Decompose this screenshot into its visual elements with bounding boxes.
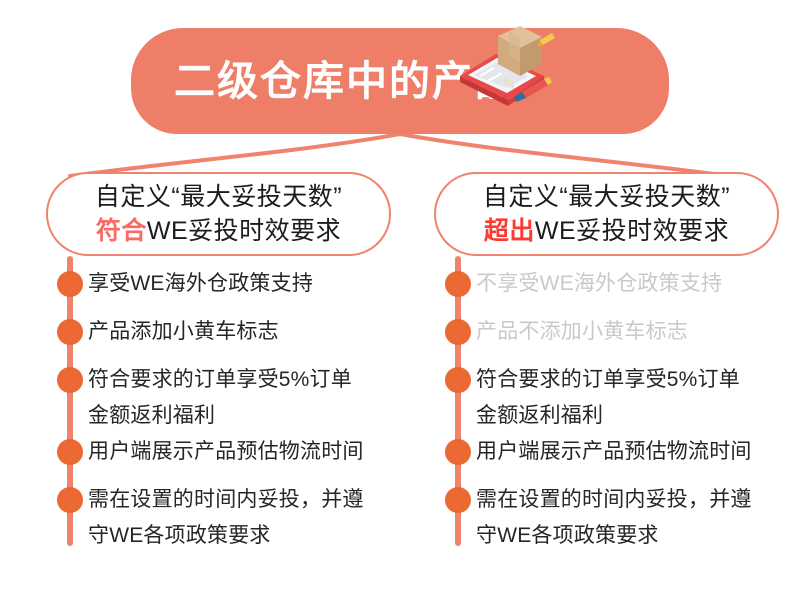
timeline-exceeded: 不享受WE海外仓政策支持 产品不添加小黄车标志 符合要求的订单享受5%订单 金额… — [434, 256, 779, 554]
bullet-dot-icon — [57, 319, 83, 345]
list-item: 享受WE海外仓政策支持 — [46, 266, 391, 314]
infographic-canvas: 二级仓库中的产品 — [0, 0, 800, 616]
card-compliant-line2-rest: WE妥投时效要求 — [147, 217, 341, 245]
list-item-label: 用户端展示产品预估物流时间 — [476, 434, 752, 470]
bullet-dot-icon — [57, 271, 83, 297]
list-item: 用户端展示产品预估物流时间 — [46, 434, 391, 482]
list-item-label: 需在设置的时间内妥投，并遵 守WE各项政策要求 — [88, 482, 364, 554]
bullet-dot-icon — [445, 439, 471, 465]
card-compliant-line1: 自定义“最大妥投天数” — [95, 179, 342, 215]
card-compliant-accent: 符合 — [96, 217, 147, 245]
bullet-dot-icon — [57, 367, 83, 393]
bullet-dot-icon — [445, 271, 471, 297]
list-item: 产品添加小黄车标志 — [46, 314, 391, 362]
bullet-dot-icon — [57, 487, 83, 513]
list-item-label: 产品添加小黄车标志 — [88, 314, 279, 350]
card-compliant: 自定义“最大妥投天数” 符合WE妥投时效要求 — [46, 172, 391, 256]
list-item-label: 用户端展示产品预估物流时间 — [88, 434, 364, 470]
bullet-dot-icon — [445, 319, 471, 345]
connector-left — [70, 134, 400, 176]
list-item-label: 不享受WE海外仓政策支持 — [476, 266, 722, 302]
card-exceeded-line1: 自定义“最大妥投天数” — [483, 179, 730, 215]
list-item: 符合要求的订单享受5%订单 金额返利福利 — [434, 362, 779, 434]
list-item: 用户端展示产品预估物流时间 — [434, 434, 779, 482]
list-item-label: 享受WE海外仓政策支持 — [88, 266, 313, 302]
list-item: 产品不添加小黄车标志 — [434, 314, 779, 362]
list-item-label: 符合要求的订单享受5%订单 金额返利福利 — [88, 362, 352, 434]
card-exceeded-line2: 超出WE妥投时效要求 — [484, 213, 729, 249]
list-item-label: 产品不添加小黄车标志 — [476, 314, 688, 350]
list-item: 需在设置的时间内妥投，并遵 守WE各项政策要求 — [46, 482, 391, 554]
card-exceeded-accent: 超出 — [484, 217, 535, 245]
bullet-dot-icon — [445, 487, 471, 513]
header-banner: 二级仓库中的产品 — [131, 28, 669, 134]
list-item-label: 符合要求的订单享受5%订单 金额返利福利 — [476, 362, 740, 434]
list-item: 符合要求的订单享受5%订单 金额返利福利 — [46, 362, 391, 434]
card-exceeded-line2-rest: WE妥投时效要求 — [535, 217, 729, 245]
column-compliant: 自定义“最大妥投天数” 符合WE妥投时效要求 享受WE海外仓政策支持 产品添加小… — [46, 172, 391, 554]
list-item: 不享受WE海外仓政策支持 — [434, 266, 779, 314]
list-item-label: 需在设置的时间内妥投，并遵 守WE各项政策要求 — [476, 482, 752, 554]
card-compliant-line2: 符合WE妥投时效要求 — [96, 213, 341, 249]
bullet-dot-icon — [445, 367, 471, 393]
card-exceeded: 自定义“最大妥投天数” 超出WE妥投时效要求 — [434, 172, 779, 256]
list-item: 需在设置的时间内妥投，并遵 守WE各项政策要求 — [434, 482, 779, 554]
column-exceeded: 自定义“最大妥投天数” 超出WE妥投时效要求 不享受WE海外仓政策支持 产品不添… — [434, 172, 779, 554]
clipboard-box-icon — [452, 14, 556, 110]
connector-right — [400, 134, 730, 176]
bullet-dot-icon — [57, 439, 83, 465]
timeline-compliant: 享受WE海外仓政策支持 产品添加小黄车标志 符合要求的订单享受5%订单 金额返利… — [46, 256, 391, 554]
